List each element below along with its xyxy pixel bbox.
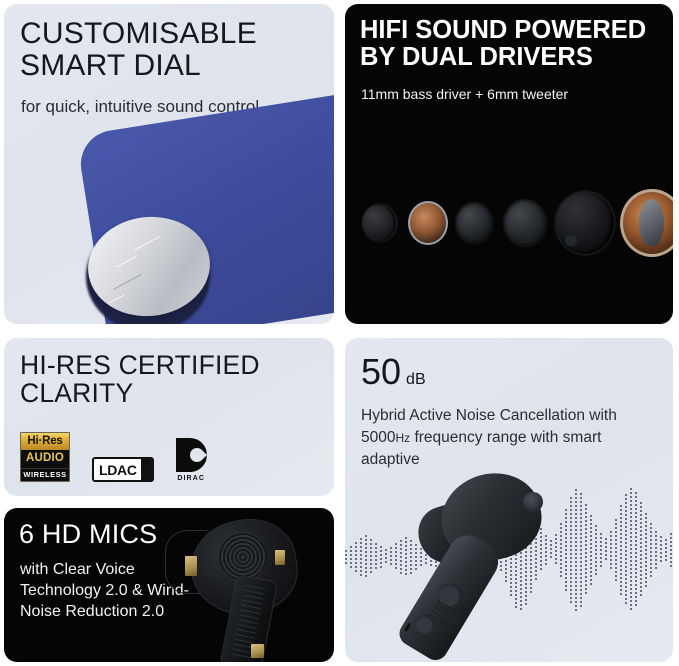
waveform-bar — [360, 538, 362, 576]
waveform-bar — [390, 547, 392, 567]
waveform-bar — [410, 540, 412, 573]
waveform-bar — [385, 549, 387, 565]
anc-frequency-value: 5000 — [361, 429, 395, 446]
anc-value-row: 50dB — [345, 338, 673, 390]
ldac-badge: LDAC — [92, 457, 154, 482]
waveform-bar — [610, 531, 612, 568]
driver-component-tweeter-coil — [408, 201, 448, 245]
waveform-bar — [395, 543, 397, 571]
panel-hifi-sound: HIFI SOUND POWERED BY DUAL DRIVERS 11mm … — [345, 4, 673, 324]
driver-component-bass-coil — [620, 189, 673, 257]
panel-hi-res-certified: HI-RES CERTIFIED CLARITY Hi·Res AUDIO WI… — [4, 338, 334, 496]
waveform-bar — [355, 542, 357, 572]
driver-component-ring — [456, 203, 492, 243]
waveform-bar — [665, 539, 667, 561]
dial-tick — [133, 236, 160, 251]
ldac-cap — [141, 459, 152, 480]
anc-unit: dB — [406, 371, 426, 388]
waveform-bar — [655, 531, 657, 568]
waveform-bar — [370, 539, 372, 576]
anc-value: 50 — [361, 351, 401, 392]
waveform-bar — [660, 536, 662, 563]
anc-frequency-unit: Hz — [395, 431, 410, 445]
feature-grid: CUSTOMISABLE SMART DIAL for quick, intui… — [0, 0, 679, 666]
driver-component-diaphragm — [556, 192, 614, 254]
cutaway-contact — [185, 556, 197, 576]
waveform-bar — [345, 550, 347, 564]
hi-res-badge-line3: WIRELESS — [21, 468, 69, 482]
waveform-bar — [380, 546, 382, 567]
waveform-bar — [620, 505, 622, 594]
ldac-label: LDAC — [99, 462, 141, 478]
dial-tick — [108, 294, 125, 304]
waveform-bar — [670, 533, 672, 568]
waveform-bar — [625, 494, 627, 606]
driver-component-ring — [504, 200, 546, 246]
waveform-bar — [375, 543, 377, 572]
hi-res-badge-line1: Hi·Res — [21, 433, 69, 451]
dial-tick — [113, 274, 142, 290]
panel-hd-mics: 6 HD MICS with Clear Voice Technology 2.… — [4, 508, 334, 662]
anc-description: Hybrid Active Noise Cancellation with 50… — [345, 390, 673, 471]
anc-description-part1: Hybrid Active Noise Cancellation with — [361, 407, 617, 424]
dial-tick — [116, 256, 136, 268]
waveform-bar — [415, 544, 417, 569]
cutaway-contact — [275, 550, 285, 565]
hifi-subtitle: 11mm bass driver + 6mm tweeter — [345, 72, 673, 103]
cutaway-contact — [251, 644, 264, 658]
panel-noise-cancellation: 50dB Hybrid Active Noise Cancellation wi… — [345, 338, 673, 662]
waveform-bar — [630, 488, 632, 612]
earbud-illustration — [419, 472, 609, 658]
waveform-bar — [365, 535, 367, 579]
dirac-logo-icon — [176, 438, 207, 472]
waveform-bar — [405, 537, 407, 577]
hi-res-badge-line2: AUDIO — [21, 450, 69, 468]
waveform-bar — [615, 519, 617, 581]
driver-component-plate — [362, 204, 396, 242]
earbud-mic-ring — [523, 492, 543, 512]
hifi-heading: HIFI SOUND POWERED BY DUAL DRIVERS — [345, 4, 673, 72]
dirac-badge: DIRAC — [176, 438, 207, 482]
hires-heading: HI-RES CERTIFIED CLARITY — [4, 338, 334, 408]
waveform-bar — [635, 492, 637, 609]
dirac-label: DIRAC — [177, 475, 205, 482]
waveform-bar — [645, 513, 647, 587]
waveform-bar — [350, 546, 352, 568]
certification-badges: Hi·Res AUDIO WIRELESS LDAC DIRAC — [20, 432, 207, 483]
waveform-bar — [640, 502, 642, 599]
smart-dial-heading: CUSTOMISABLE SMART DIAL — [4, 4, 334, 82]
hi-res-audio-wireless-badge: Hi·Res AUDIO WIRELESS — [20, 432, 70, 483]
driver-exploded-view — [345, 187, 673, 259]
waveform-bar — [650, 523, 652, 578]
earbud-cutaway-illustration — [163, 516, 328, 662]
waveform-bar — [400, 540, 402, 575]
panel-smart-dial: CUSTOMISABLE SMART DIAL for quick, intui… — [4, 4, 334, 324]
